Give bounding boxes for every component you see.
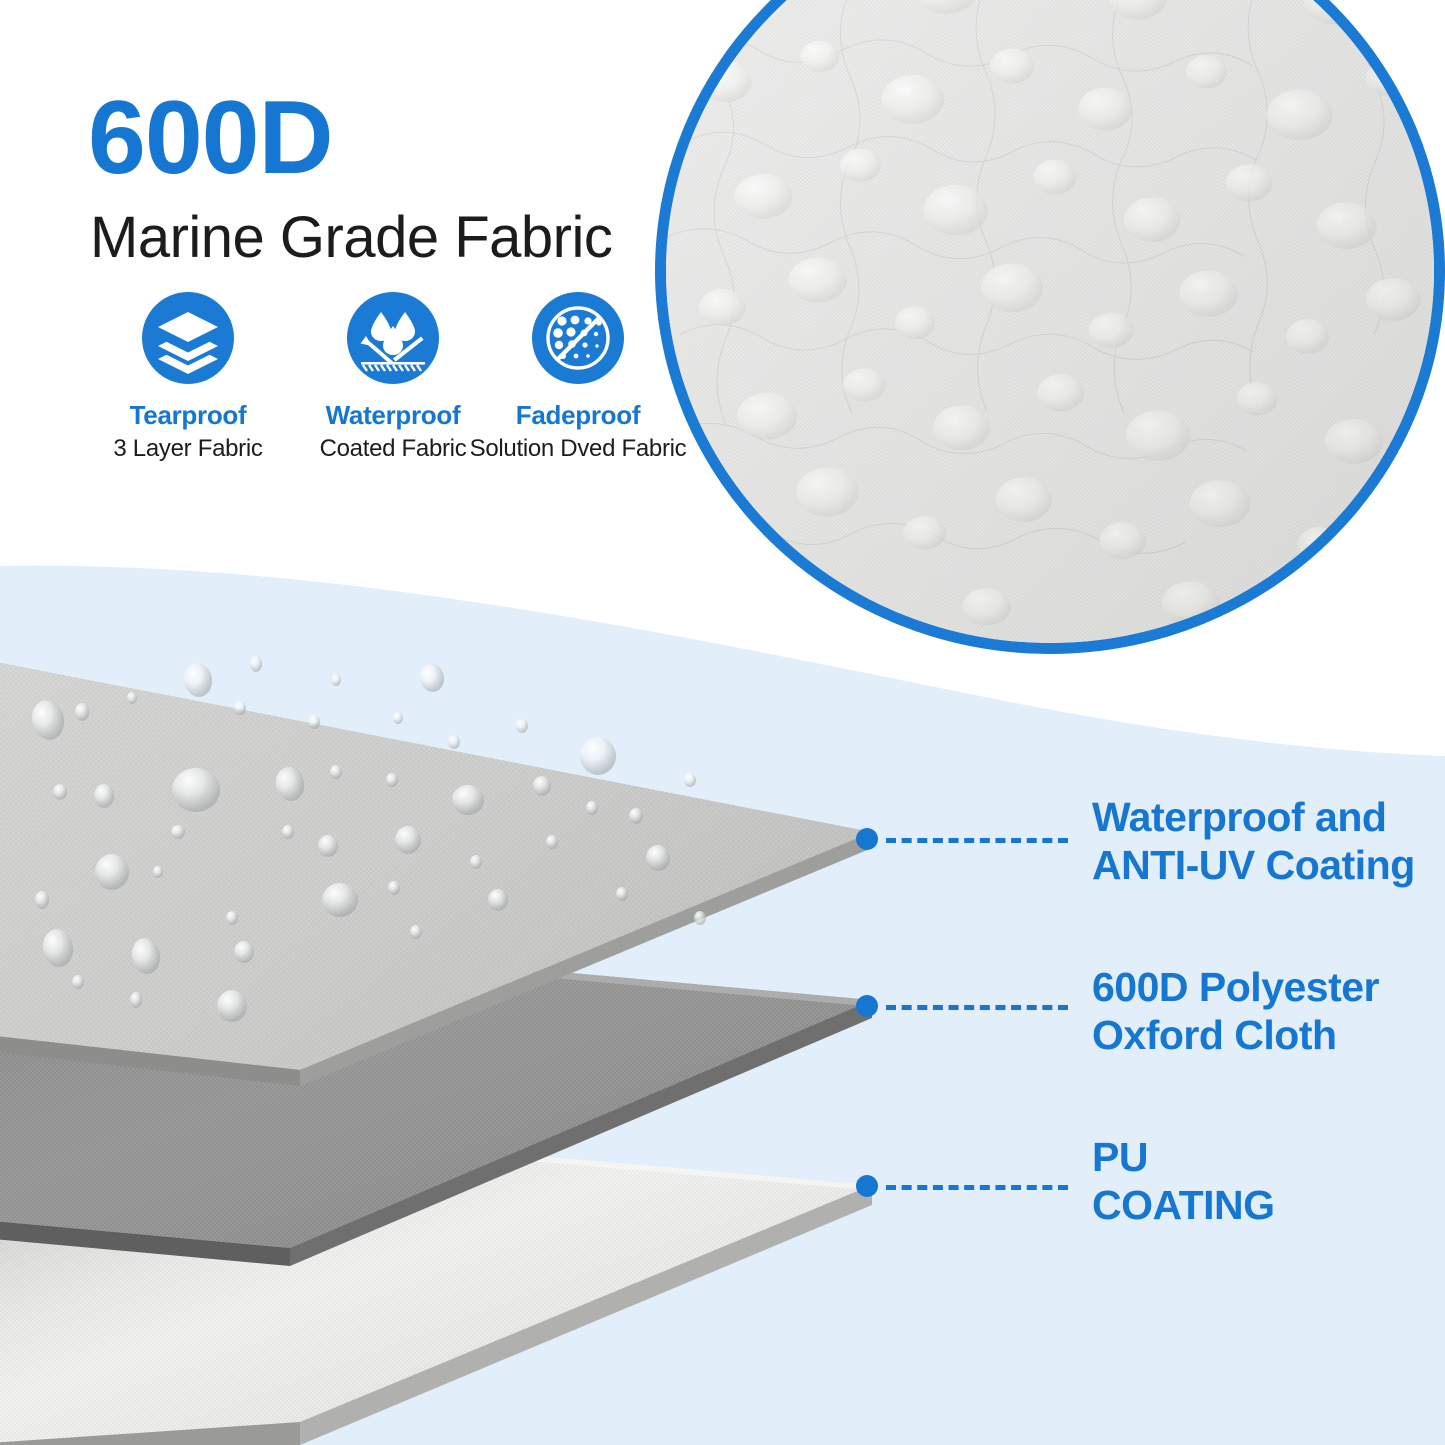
- no-fade-dots-icon: [532, 292, 624, 384]
- layer-marker-dot: [856, 1175, 878, 1197]
- callout-line: 600D Polyester: [1092, 963, 1379, 1011]
- callout-line: Oxford Cloth: [1092, 1011, 1379, 1059]
- callout-line: Waterproof and: [1092, 793, 1415, 841]
- infographic-canvas: 600D Marine Grade Fabric Tearproof 3 Lay…: [0, 0, 1445, 1445]
- feature-title: Fadeproof: [468, 400, 688, 431]
- callout-line: ANTI-UV Coating: [1092, 841, 1415, 889]
- callout-pu-coating: PU COATING: [1092, 1133, 1275, 1229]
- water-repellent-icon: [347, 292, 439, 384]
- page-subtitle: Marine Grade Fabric: [90, 208, 612, 268]
- leader-dash: [886, 838, 1068, 843]
- page-title: 600D: [88, 86, 333, 190]
- layers-icon: [142, 292, 234, 384]
- fabric-beading-water-closeup-icon: [666, 0, 1434, 644]
- layer-marker-dot: [856, 995, 878, 1017]
- feature-description: 3 Layer Fabric: [78, 435, 298, 463]
- leader-dash: [886, 1005, 1068, 1010]
- fabric-closeup-circle: [655, 0, 1445, 654]
- callout-line: PU: [1092, 1133, 1275, 1181]
- feature-description: Solution Dved Fabric: [468, 435, 688, 463]
- layer-stack-diagram: [0, 600, 960, 1445]
- feature-item-tearproof: Tearproof 3 Layer Fabric: [78, 292, 298, 463]
- feature-title: Tearproof: [78, 400, 298, 431]
- feature-list: Tearproof 3 Layer Fabric: [78, 292, 758, 482]
- callout-line: COATING: [1092, 1181, 1275, 1229]
- leader-dash: [886, 1185, 1068, 1190]
- feature-item-fadeproof: Fadeproof Solution Dved Fabric: [468, 292, 688, 463]
- callout-waterproof-anti-uv: Waterproof and ANTI-UV Coating: [1092, 793, 1415, 889]
- callout-600d-polyester: 600D Polyester Oxford Cloth: [1092, 963, 1379, 1059]
- layer-marker-dot: [856, 828, 878, 850]
